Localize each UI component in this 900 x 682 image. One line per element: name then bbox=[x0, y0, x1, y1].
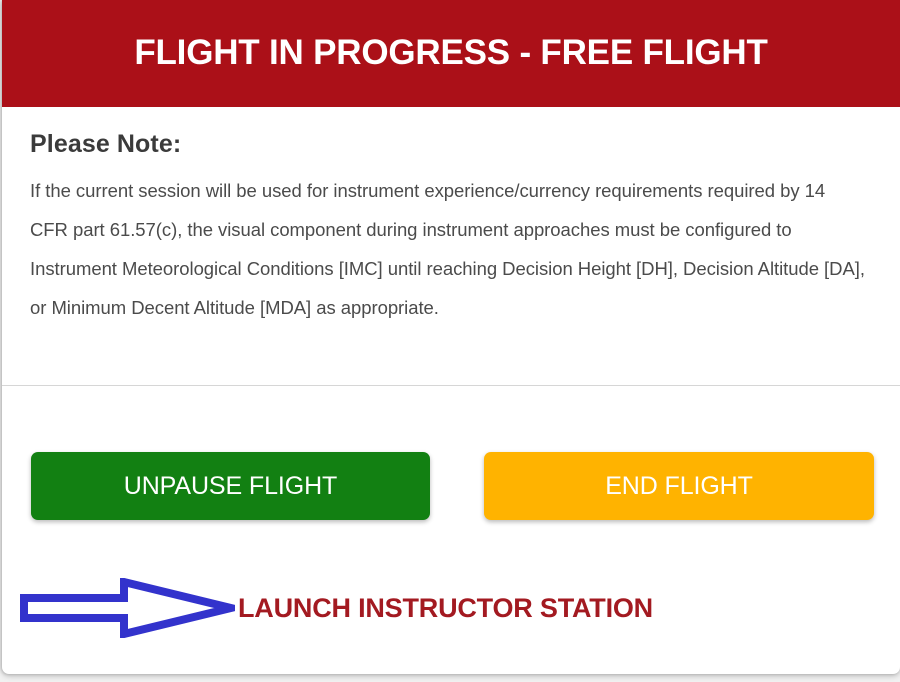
flight-status-card: FLIGHT IN PROGRESS - FREE FLIGHT Please … bbox=[2, 0, 900, 674]
note-body-text: If the current session will be used for … bbox=[30, 171, 865, 327]
card-header: FLIGHT IN PROGRESS - FREE FLIGHT bbox=[2, 0, 900, 107]
unpause-flight-button[interactable]: UNPAUSE FLIGHT bbox=[31, 452, 430, 520]
page-title: FLIGHT IN PROGRESS - FREE FLIGHT bbox=[134, 35, 767, 73]
app-screen: FLIGHT IN PROGRESS - FREE FLIGHT Please … bbox=[0, 0, 900, 682]
note-heading: Please Note: bbox=[30, 129, 872, 159]
launch-instructor-station-annotation: LAUNCH INSTRUCTOR STATION bbox=[2, 578, 900, 640]
right-arrow-icon bbox=[20, 578, 235, 638]
action-button-row: UNPAUSE FLIGHT END FLIGHT bbox=[2, 452, 900, 520]
note-section: Please Note: If the current session will… bbox=[2, 107, 900, 327]
launch-instructor-station-label[interactable]: LAUNCH INSTRUCTOR STATION bbox=[238, 578, 653, 638]
end-flight-button[interactable]: END FLIGHT bbox=[484, 452, 874, 520]
section-divider bbox=[2, 385, 900, 386]
